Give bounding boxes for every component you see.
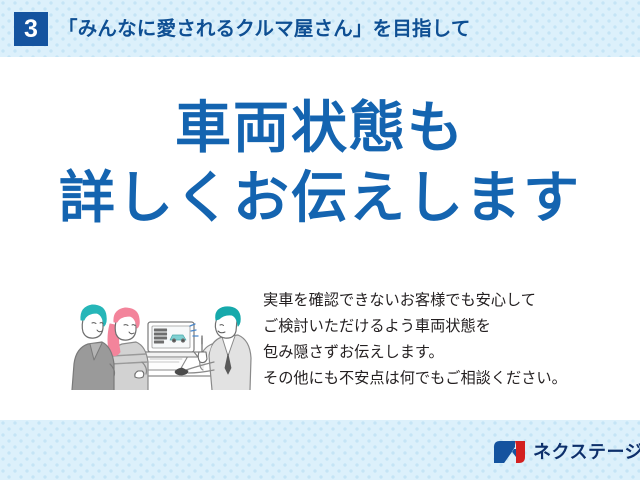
body-copy-line: その他にも不安点は何でもご相談ください。 (263, 366, 567, 392)
slide-root: 3 「みんなに愛されるクルマ屋さん」を目指して 車両状態も 詳しくお伝えします … (0, 0, 640, 480)
header: 3 「みんなに愛されるクルマ屋さん」を目指して (0, 0, 640, 57)
brand-logo-text: ネクステージ (533, 439, 640, 465)
headline-line-1: 車両状態も (0, 97, 640, 159)
consultation-illustration (62, 278, 252, 390)
headline-line-2: 詳しくお伝えします (0, 167, 640, 229)
step-number-badge: 3 (14, 12, 48, 46)
body-copy-line: ご検討いただけるよう車両状態を (263, 314, 567, 340)
nextage-n-logo-icon (492, 439, 528, 465)
header-title: 「みんなに愛されるクルマ屋さん」を目指して (58, 13, 471, 45)
body-copy-line: 包み隠さずお伝えします。 (263, 340, 567, 366)
body-copy: 実車を確認できないお客様でも安心して ご検討いただけるよう車両状態を 包み隠さず… (263, 288, 567, 392)
body-copy-line: 実車を確認できないお客様でも安心して (263, 288, 567, 314)
brand-logo: ネクステージ (492, 437, 632, 467)
